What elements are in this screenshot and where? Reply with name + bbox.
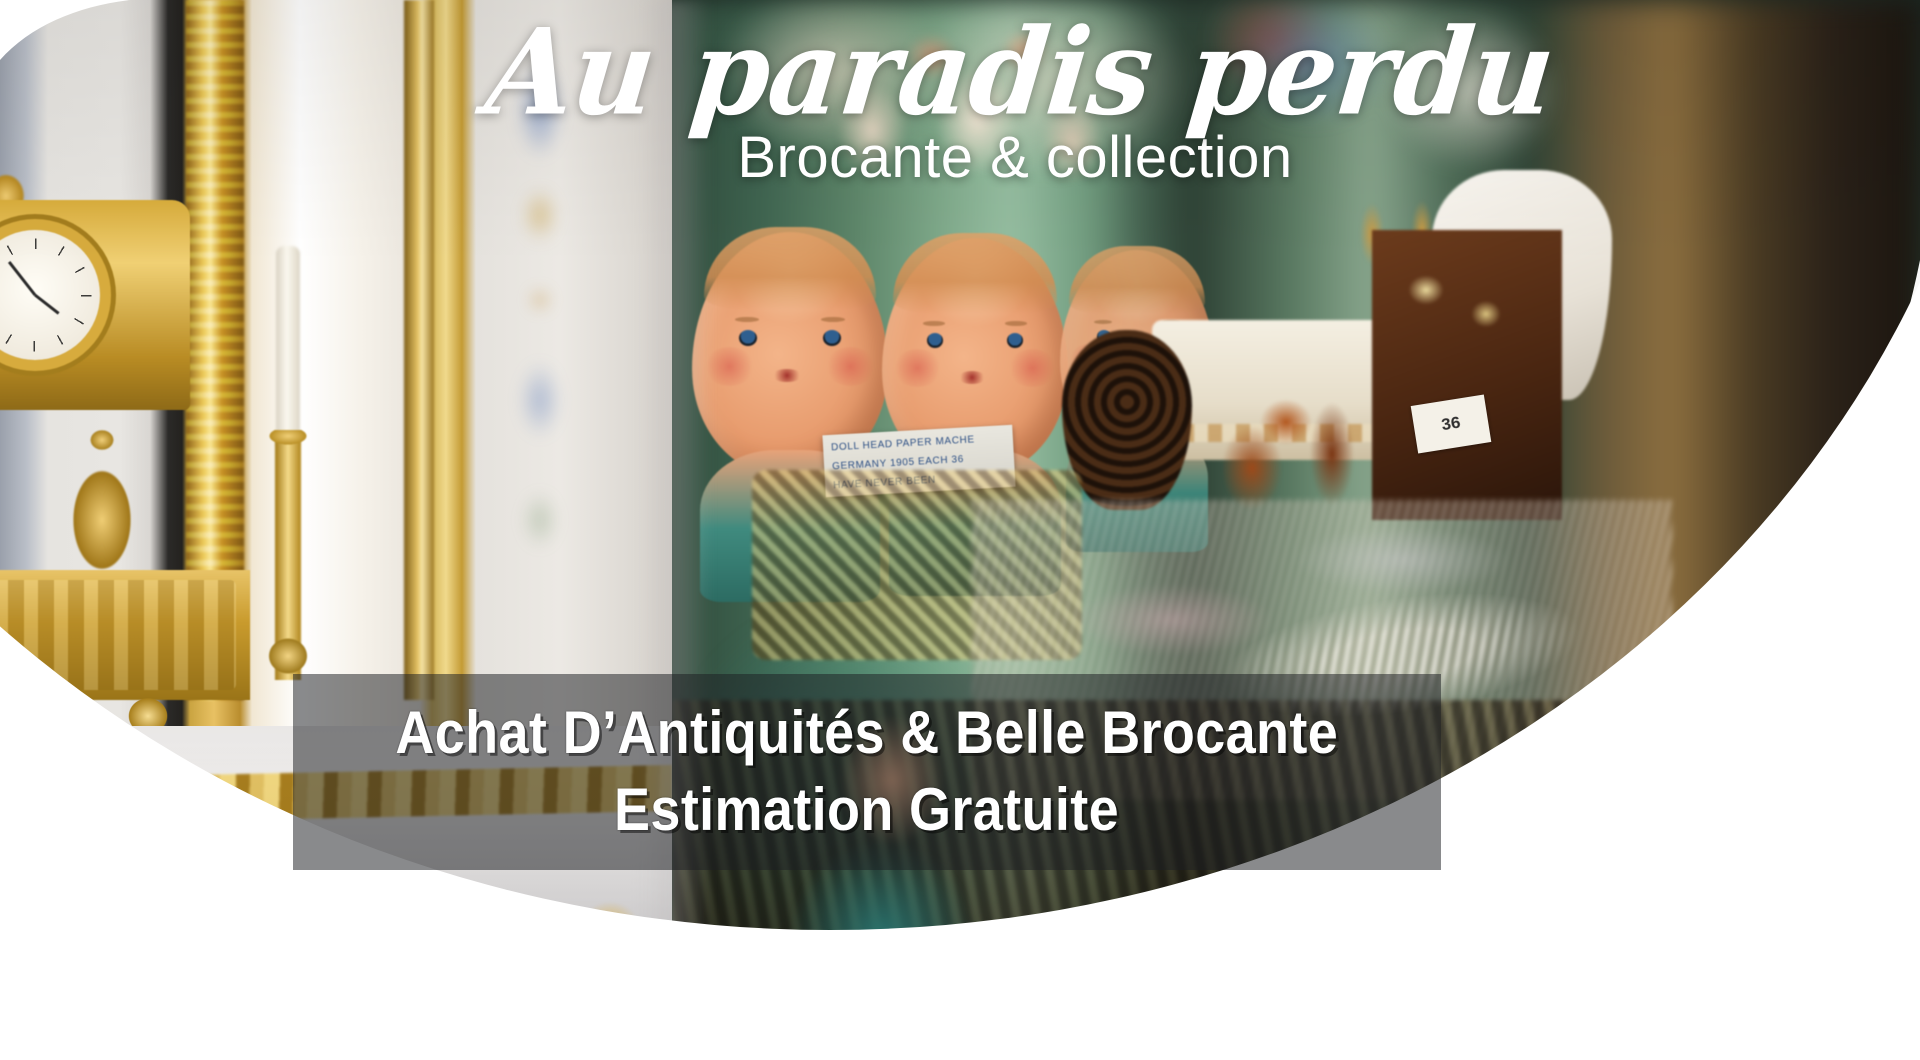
photo-antique-clock-interior xyxy=(0,0,672,1060)
porcelain-figurines xyxy=(792,10,1212,260)
doll-eye-left xyxy=(927,333,944,348)
carved-wood-case xyxy=(1372,230,1562,520)
photo-composite: 36 DOLL HEAD PAPER MACHE GERMANY 1905 EA… xyxy=(0,0,1920,1060)
photo-doll-collectibles: 36 DOLL HEAD PAPER MACHE GERMANY 1905 EA… xyxy=(672,0,1920,1060)
doll-brow-left xyxy=(735,317,759,322)
doll-mouth xyxy=(772,369,801,382)
painted-wall-panel xyxy=(470,0,610,640)
doll-eye-right xyxy=(1007,333,1024,348)
doll-hair xyxy=(893,233,1057,314)
clock-plinth xyxy=(0,570,250,700)
doll-mouth xyxy=(958,371,986,384)
doll-hair xyxy=(1069,246,1205,314)
tagline-line-1: Achat D’Antiquités & Belle Brocante xyxy=(396,695,1339,772)
doll-brow-left xyxy=(1094,320,1112,324)
doll-hair xyxy=(704,227,876,310)
doll-eye-right xyxy=(823,330,841,346)
doll-cheek-left xyxy=(704,347,755,386)
doll-eye-left xyxy=(739,330,757,346)
gilded-frame-right xyxy=(404,0,434,700)
photo-seam xyxy=(640,0,710,1060)
mantel-carved-ornament xyxy=(120,880,672,970)
doll-cheek-right xyxy=(1008,349,1056,387)
candle xyxy=(276,246,300,446)
doll-brow-left xyxy=(923,321,945,326)
tagline-line-2: Estimation Gratuite xyxy=(615,772,1120,849)
doll-cheek-left xyxy=(893,349,941,387)
doll-brow-right xyxy=(1005,321,1027,326)
candlestick xyxy=(262,430,314,680)
doll-brow-right xyxy=(821,317,845,322)
doll-cheek-right xyxy=(825,347,876,386)
tagline-overlay-band: Achat D’Antiquités & Belle Brocante Esti… xyxy=(293,674,1441,870)
hero-banner: 36 DOLL HEAD PAPER MACHE GERMANY 1905 EA… xyxy=(0,0,1920,1060)
